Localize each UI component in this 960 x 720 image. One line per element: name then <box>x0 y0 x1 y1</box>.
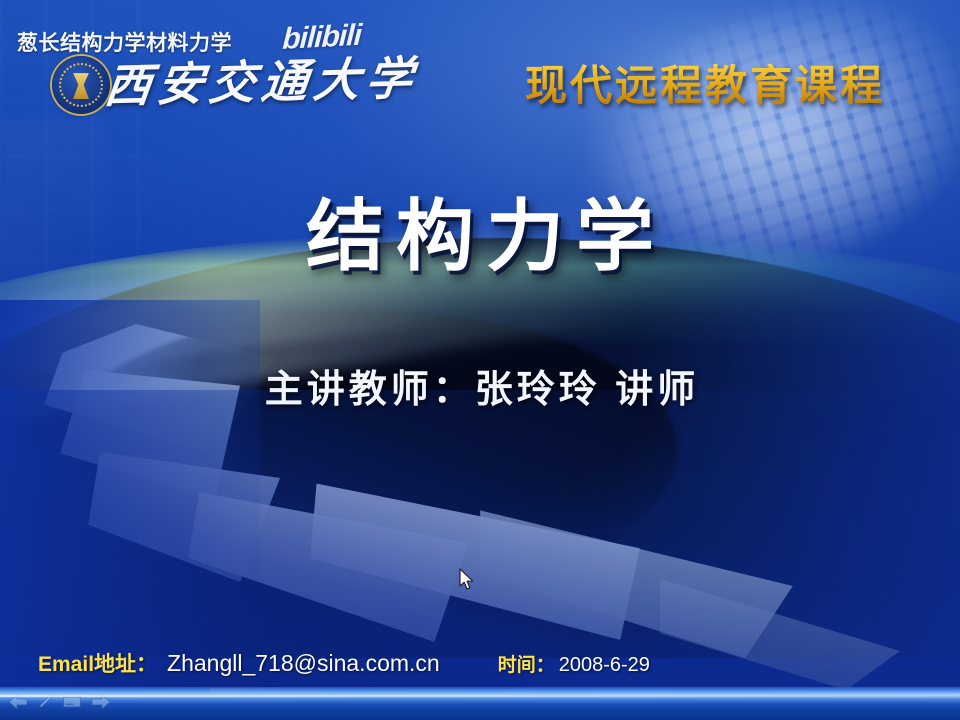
slideshow-taskbar <box>0 687 960 720</box>
instructor-line: 主讲教师：张玲玲 讲师 <box>0 358 960 413</box>
email-label: Email地址： <box>38 648 157 678</box>
email-value: Zhangll_718@sina.com.cn <box>167 650 440 677</box>
page-title: 结构力学 <box>0 196 960 278</box>
previous-slide-icon[interactable] <box>8 694 28 710</box>
course-banner-title: 现代远程教育课程 <box>525 52 885 113</box>
date-label: 时间： <box>498 650 555 677</box>
slideshow-menu-icon[interactable] <box>62 694 82 710</box>
slide-footer: Email地址： Zhangll_718@sina.com.cn 时间： 200… <box>38 648 650 678</box>
university-name: 西安交通大学 <box>102 42 423 116</box>
pen-tool-icon[interactable] <box>37 694 53 710</box>
date-value: 2008-6-29 <box>559 654 650 677</box>
presentation-slide: 葱长结构力学材料力学 bilibili 西安交通大学 现代远程教育课程 结构力学… <box>0 0 960 720</box>
taskbar-highlight <box>210 688 350 694</box>
xjtu-emblem-icon <box>52 56 110 114</box>
slideshow-control-group <box>8 694 111 710</box>
next-slide-icon[interactable] <box>91 694 111 710</box>
